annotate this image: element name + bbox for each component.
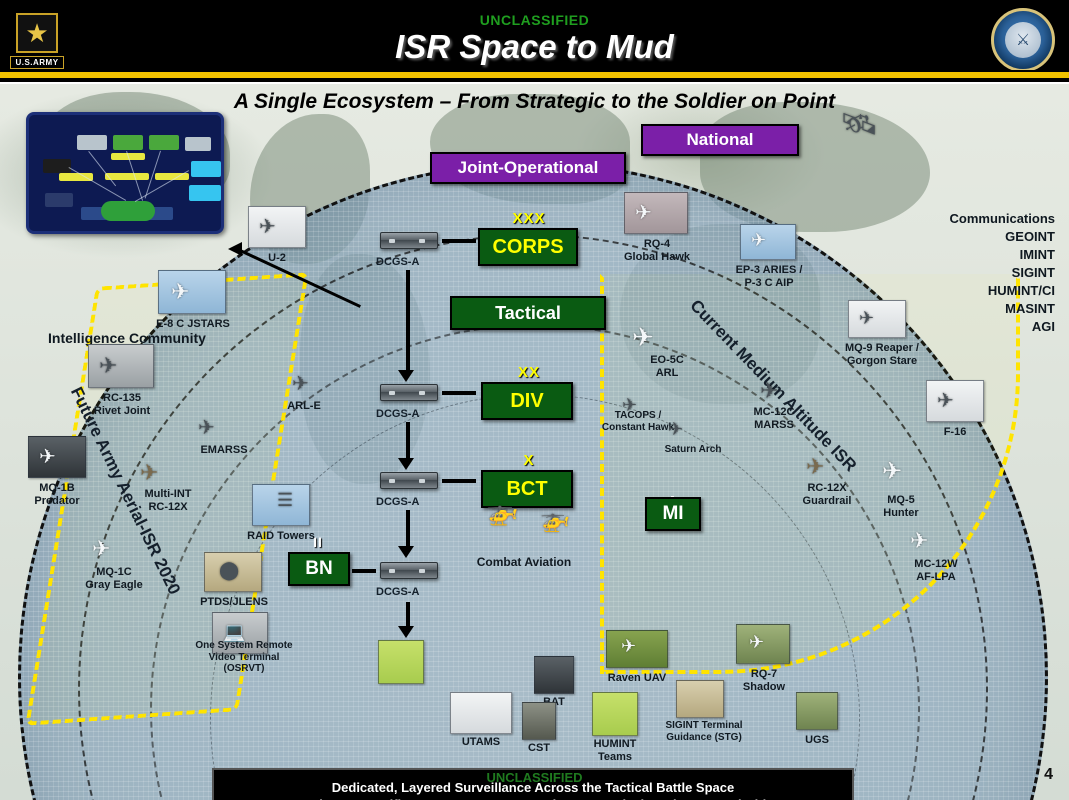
intel-discipline-item: SIGINT (950, 264, 1055, 282)
platform-thumb-f16: ✈ (926, 380, 984, 422)
intel-discipline-item: GEOINT (950, 228, 1055, 246)
platform-label-ptds: PTDS/JLENS (194, 596, 274, 609)
platform-thumb-e8c: ✈ (158, 270, 226, 314)
platform-thumb-rc135: ✈ (88, 344, 154, 388)
platform-label-u2: U-2 (248, 252, 306, 265)
echelon-box-mi[interactable]: MI (645, 497, 701, 531)
intel-discipline-item: AGI (950, 318, 1055, 336)
dcgs-a-server-bct[interactable] (380, 472, 438, 489)
inset-node (185, 137, 211, 151)
connector-arrow-soldier (398, 626, 414, 638)
platform-label-saturn: Saturn Arch (652, 444, 734, 456)
page-title: ISR Space to Mud (0, 28, 1069, 66)
platform-thumb-ep3: ✈ (740, 224, 796, 260)
platform-label-rq7: RQ-7 Shadow (726, 668, 802, 693)
dcgs-a-label-bct: DCGS-A (376, 496, 419, 508)
platform-label-mq5: MQ-5 Hunter (868, 494, 934, 519)
platform-thumb-rq7: ✈ (736, 624, 790, 664)
gold-divider (0, 70, 1069, 80)
soldier-thumbnail (378, 640, 424, 684)
summary-line: Broad Area Specific Target Coverage Base… (285, 797, 780, 800)
echelon-symbol-bct: X (494, 452, 564, 469)
slide-root: ★ U.S.ARMY UNCLASSIFIED ISR Space to Mud… (0, 0, 1069, 800)
platform-label-emarss: EMARSS (182, 444, 266, 457)
intel-discipline-item: Communications (950, 210, 1055, 228)
inset-node (43, 159, 71, 173)
platform-thumb-bat (534, 656, 574, 694)
classification-header: UNCLASSIFIED (0, 12, 1069, 28)
platform-thumb-cst (522, 702, 556, 740)
inset-pointer-arrow (228, 242, 242, 256)
platform-label-f16: F-16 (926, 426, 984, 439)
platform-label-utams: UTAMS (448, 736, 514, 749)
dcgs-a-server-bn[interactable] (380, 562, 438, 579)
dcgs-a-label-corps: DCGS-A (376, 256, 419, 268)
intel-disciplines-list: Communications GEOINT IMINT SIGINT HUMIN… (950, 210, 1055, 336)
platform-label-mq1c: MQ-1C Gray Eagle (72, 566, 156, 591)
platform-label-ep3: EP-3 ARIES / P-3 C AIP (716, 264, 822, 289)
platform-thumb-raid: ☰ (252, 484, 310, 526)
connector-bct (442, 479, 476, 483)
platform-label-arle: ARL-E (268, 400, 340, 413)
platform-label-humint: HUMINT Teams (586, 738, 644, 763)
platform-thumb-stg (676, 680, 724, 718)
connector-corps (442, 239, 476, 243)
inset-node (149, 135, 179, 150)
intel-discipline-item: MASINT (950, 300, 1055, 318)
inset-node (191, 161, 221, 177)
platform-thumb-ugs (796, 692, 838, 730)
connector-arrow-bn (398, 546, 414, 558)
platform-label-rc135: RC-135 Rivet Joint (76, 392, 168, 417)
page-number: 4 (1044, 766, 1053, 784)
platform-label-tacops: TACOPS / Constant Hawk (588, 410, 688, 433)
platform-thumb-ptds: ⬤ (204, 552, 262, 592)
intelligence-community-inset (26, 112, 224, 234)
platform-label-e8c: E-8 C JSTARS (138, 318, 248, 331)
platform-label-cst: CST (518, 742, 560, 755)
connector-arrow-div (398, 370, 414, 382)
intel-discipline-item: IMINT (950, 246, 1055, 264)
platform-label-raven: Raven UAV (598, 672, 676, 685)
tier-box-tactical[interactable]: Tactical (450, 296, 606, 330)
inset-node (45, 193, 73, 207)
platform-thumb-raven: ✈ (606, 630, 668, 668)
connector-bn (352, 569, 376, 573)
platform-label-rq4: RQ-4 Global Hawk (614, 238, 700, 263)
slide-subtitle: A Single Ecosystem – From Strategic to t… (0, 90, 1069, 114)
echelon-box-div[interactable]: DIV (481, 382, 573, 420)
platform-thumb-rq4: ✈ (624, 192, 688, 234)
platform-label-rc12x: RC-12X Guardrail (788, 482, 866, 507)
platform-label-ugs: UGS (792, 734, 842, 747)
echelon-box-bct[interactable]: BCT (481, 470, 573, 508)
echelon-symbol-corps: XXX (494, 210, 564, 227)
echelon-symbol-div: XX (494, 364, 564, 381)
platform-thumb-mq9: ✈ (848, 300, 906, 338)
tier-box-joint-operational[interactable]: Joint-Operational (430, 152, 626, 184)
dcgs-a-server-div[interactable] (380, 384, 438, 401)
dcgs-a-label-div: DCGS-A (376, 408, 419, 420)
connector-arrow-bct (398, 458, 414, 470)
platform-label-multiint: Multi-INT RC-12X (126, 488, 210, 513)
inset-node-fid-cds (101, 201, 155, 221)
connector-div (442, 391, 476, 395)
platform-label-mc12c: MC-12C MARSS (736, 406, 812, 431)
intel-discipline-item: HUMINT/CI (950, 282, 1055, 300)
inset-node (113, 135, 143, 150)
platform-label-mq9: MQ-9 Reaper / Gorgon Stare (832, 342, 932, 367)
platform-thumb-u2: ✈ (248, 206, 306, 248)
platform-label-mc12w: MC-12W AF-LPA (896, 558, 976, 583)
tier-box-national[interactable]: National (641, 124, 799, 156)
intelligence-seal-icon: ⚔ (991, 8, 1055, 72)
platform-label-eo5c: EO-5C ARL (636, 354, 698, 379)
classification-footer: UNCLASSIFIED (0, 770, 1069, 785)
platform-label-osrvt: One System Remote Video Terminal (OSRVT) (186, 640, 302, 675)
platform-label-mq1b: MQ-1B Predator (18, 482, 96, 507)
echelon-box-bn[interactable]: BN (288, 552, 350, 586)
platform-thumb-mq1b: ✈ (28, 436, 86, 478)
diagram-canvas: Future Army Aerial-ISR 2020 Current Medi… (0, 84, 1069, 800)
platform-thumb-humint (592, 692, 638, 736)
platform-thumb-utams (450, 692, 512, 734)
platform-label-stg: SIGINT Terminal Guidance (STG) (648, 720, 760, 743)
echelon-box-corps[interactable]: CORPS (478, 228, 578, 266)
platform-label-raid: RAID Towers (240, 530, 322, 543)
connector-corps-div (406, 270, 410, 376)
dcgs-a-server-corps[interactable] (380, 232, 438, 249)
dcgs-a-label-bn: DCGS-A (376, 586, 419, 598)
inset-node (189, 185, 221, 201)
slide-header: ★ U.S.ARMY UNCLASSIFIED ISR Space to Mud… (0, 0, 1069, 82)
inset-node (77, 135, 107, 150)
platform-label-combat-aviation: Combat Aviation (462, 556, 586, 570)
